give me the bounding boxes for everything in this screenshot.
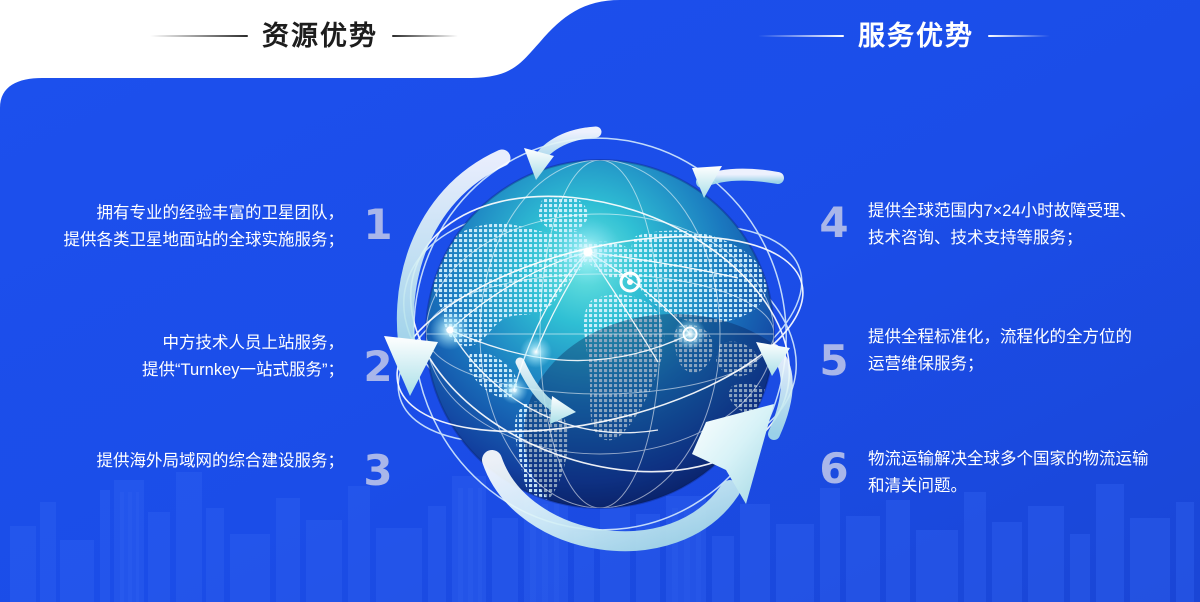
header-right: 服务优势 <box>758 14 1050 58</box>
globe-illustration <box>374 104 826 556</box>
header-right-rule-start <box>758 35 844 37</box>
header-left-rule-end <box>392 35 458 37</box>
feature-item-5[interactable]: 5 提供全程标准化，流程化的全方位的 运营维保服务； <box>812 324 1200 382</box>
slide-canvas: 资源优势 服务优势 <box>0 0 1200 602</box>
header-left-rule-start <box>150 35 248 37</box>
header-left-title: 资源优势 <box>262 14 378 58</box>
feature-item-6[interactable]: 6 物流运输解决全球多个国家的物流运输 和清关问题。 <box>812 446 1200 500</box>
feature-item-3-text: 提供海外局域网的综合建设服务； <box>97 448 345 475</box>
feature-item-6-text: 物流运输解决全球多个国家的物流运输 和清关问题。 <box>868 446 1149 500</box>
feature-item-6-number: 6 <box>812 448 856 490</box>
feature-item-2-number: 2 <box>356 346 400 388</box>
feature-item-1-text: 拥有专业的经验丰富的卫星团队， 提供各类卫星地面站的全球实施服务； <box>64 200 345 254</box>
feature-item-1-number: 1 <box>356 204 400 246</box>
feature-item-4-number: 4 <box>812 202 856 244</box>
feature-item-2-text: 中方技术人员上站服务， 提供“Turnkey一站式服务”； <box>142 330 344 384</box>
feature-item-3-number: 3 <box>356 450 400 492</box>
feature-item-2[interactable]: 中方技术人员上站服务， 提供“Turnkey一站式服务”； 2 <box>0 330 400 388</box>
header-left: 资源优势 <box>150 14 458 58</box>
feature-item-3[interactable]: 提供海外局域网的综合建设服务； 3 <box>0 448 400 492</box>
header-right-title: 服务优势 <box>858 14 974 58</box>
feature-item-1[interactable]: 拥有专业的经验丰富的卫星团队， 提供各类卫星地面站的全球实施服务； 1 <box>0 200 400 254</box>
header-right-rule-end <box>988 35 1050 37</box>
feature-item-4-text: 提供全球范围内7×24小时故障受理、 技术咨询、技术支持等服务； <box>868 198 1136 252</box>
feature-item-5-text: 提供全程标准化，流程化的全方位的 运营维保服务； <box>868 324 1132 378</box>
feature-item-5-number: 5 <box>812 340 856 382</box>
feature-item-4[interactable]: 4 提供全球范围内7×24小时故障受理、 技术咨询、技术支持等服务； <box>812 198 1200 252</box>
